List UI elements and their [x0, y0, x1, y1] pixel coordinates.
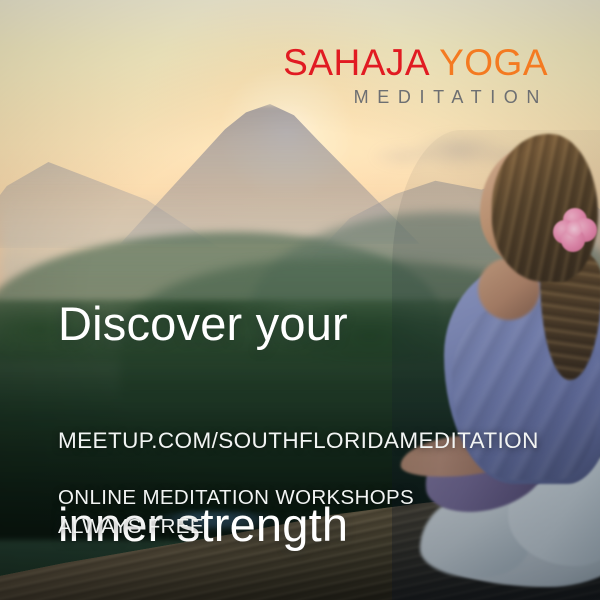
meditation-poster: SAHAJAYOGA MEDITATION Discover your inne… [0, 0, 600, 600]
logo-word-sahaja: SAHAJA [283, 42, 430, 83]
brand-logo: SAHAJAYOGA MEDITATION [283, 44, 548, 106]
logo-word-yoga: YOGA [439, 42, 548, 83]
tagline: ONLINE MEDITATION WORKSHOPS ALWAYS FREE [58, 483, 414, 541]
headline-line-1: Discover your [58, 291, 348, 358]
meetup-url-link[interactable]: MEETUP.COM/SOUTHFLORIDAMEDITATION [58, 428, 539, 454]
flower-core [566, 221, 582, 237]
logo-subtitle: MEDITATION [283, 88, 548, 106]
tagline-line-1: ONLINE MEDITATION WORKSHOPS [58, 483, 414, 512]
logo-wordmark: SAHAJAYOGA [283, 44, 548, 81]
tagline-line-2: ALWAYS FREE [58, 512, 414, 541]
pink-flower-icon [553, 208, 597, 252]
